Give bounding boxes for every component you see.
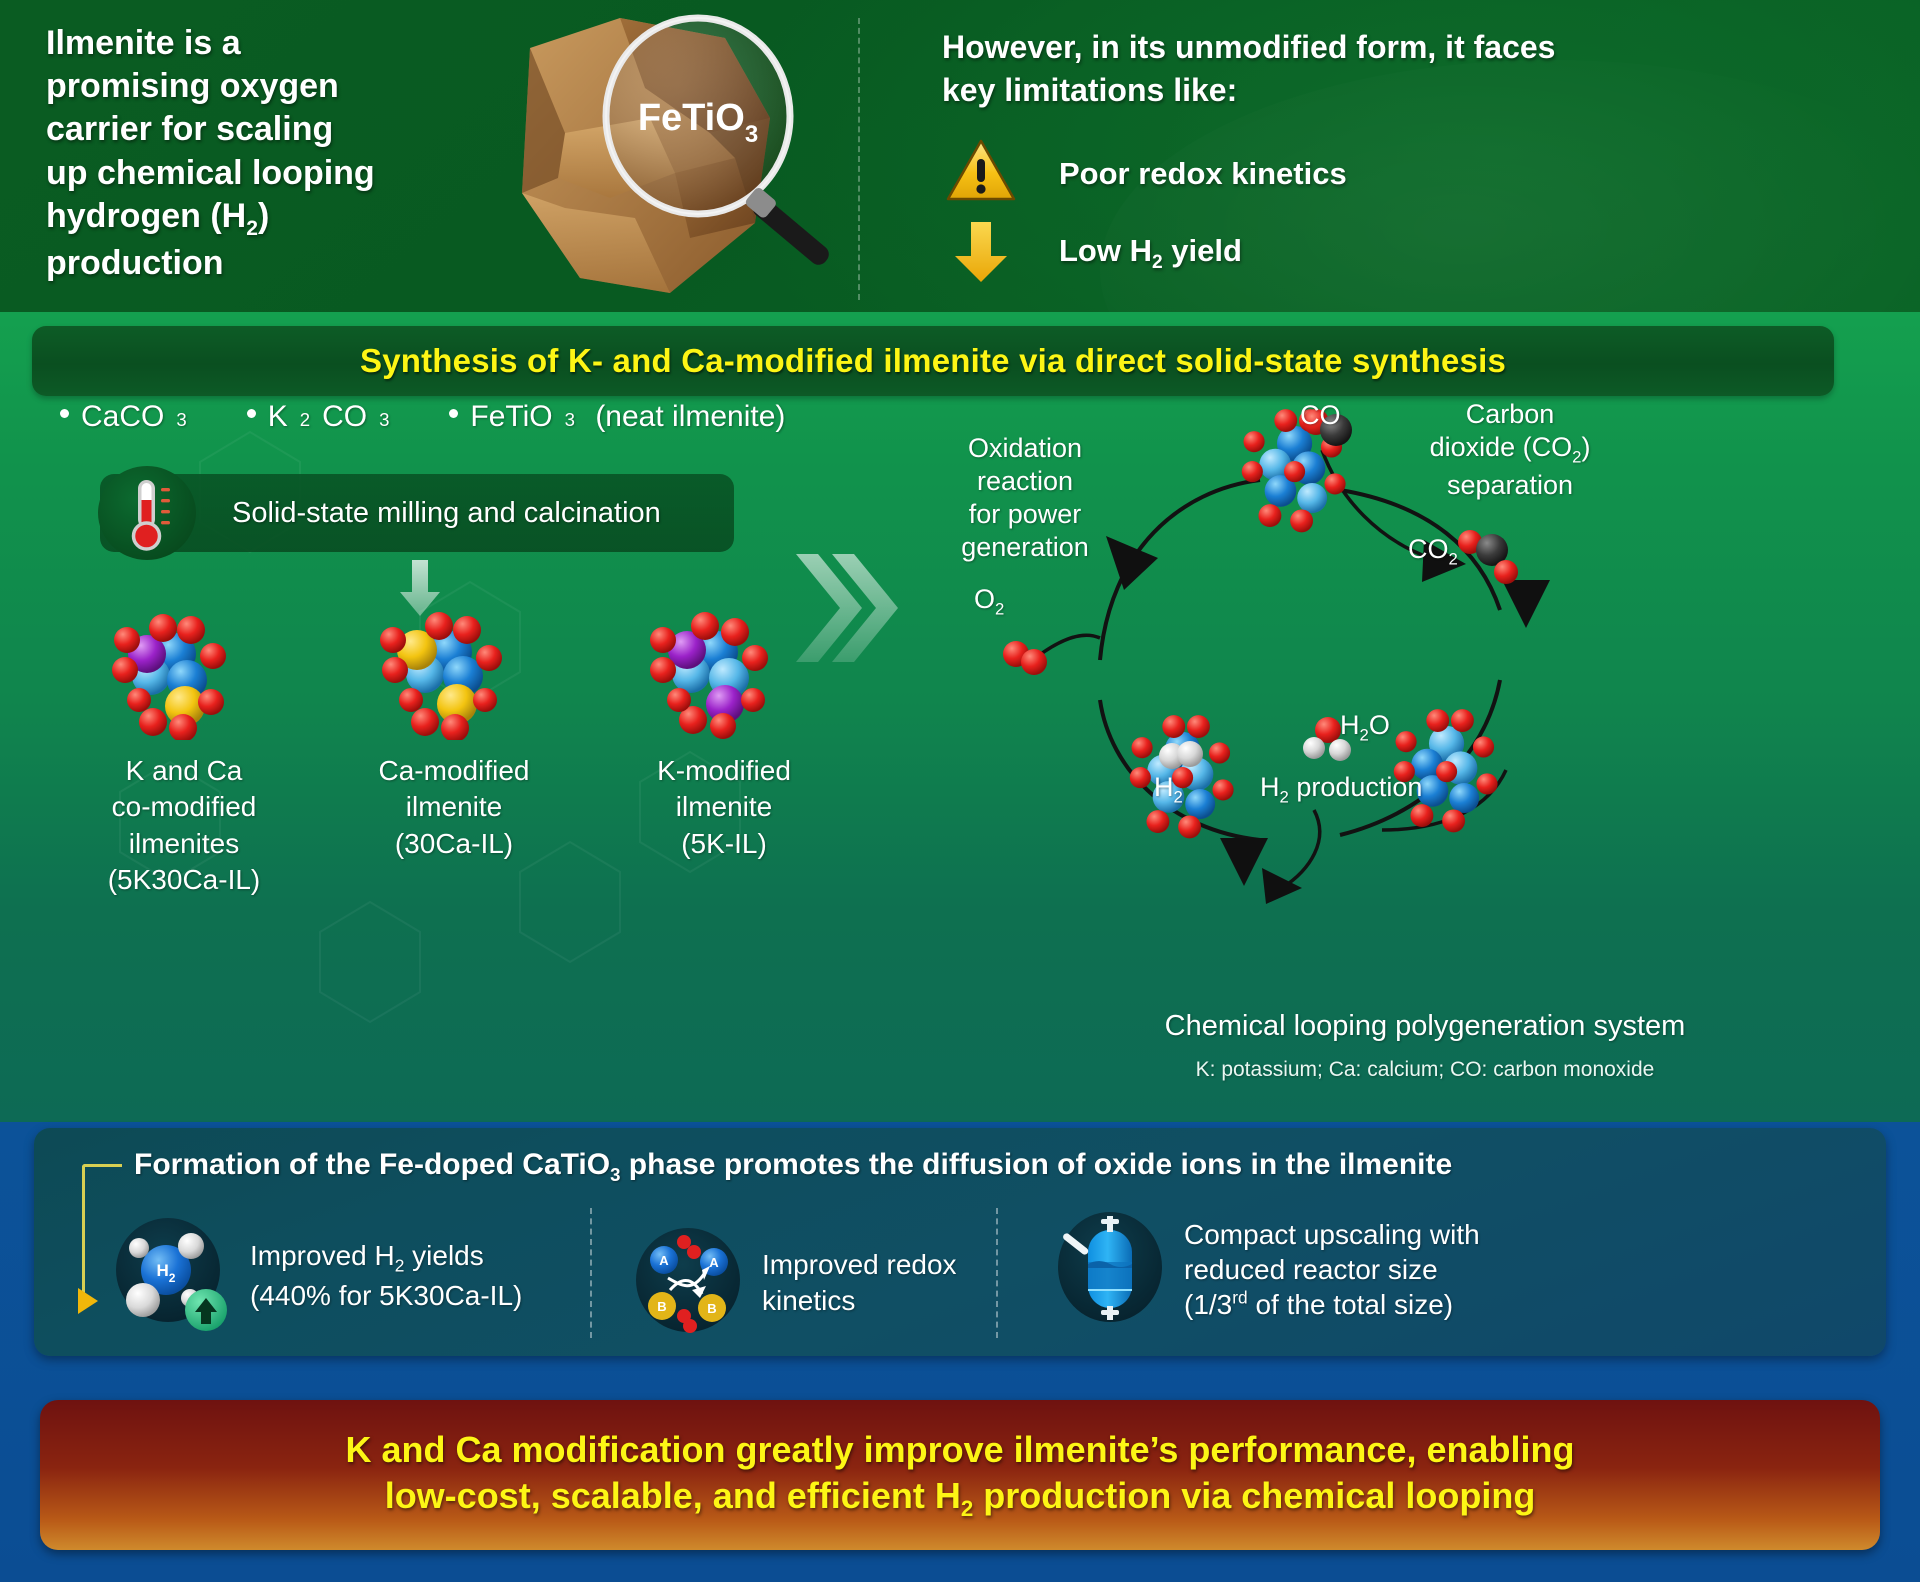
cycle-label-h2-production: H2 production <box>1260 772 1422 807</box>
o2-molecule-icon <box>1003 641 1047 675</box>
benefit-item-kinetics: A A B B Improved redoxkinetics <box>632 1224 982 1341</box>
reagent-fetio3: FeTiO3 (neat ilmenite) <box>449 400 785 434</box>
svg-text:B: B <box>707 1301 716 1316</box>
limitations-heading: However, in its unmodified form, it face… <box>942 26 1582 111</box>
chemical-looping-cycle-diagram: Oxidationreactionfor powergeneration CO … <box>910 390 1920 950</box>
down-arrow-icon <box>945 218 1017 289</box>
cycle-arrow-bottom <box>1220 838 1268 886</box>
svg-text:A: A <box>659 1253 669 1268</box>
benefit-label-yield: Improved H2 yields(440% for 5K30Ca-IL) <box>250 1238 522 1313</box>
benefit-label-upscaling: Compact upscaling withreduced reactor si… <box>1184 1217 1480 1323</box>
benefit-item-upscaling: Compact upscaling withreduced reactor si… <box>1054 1208 1854 1331</box>
ilmenite-rock-illustration: FeTiO3 <box>470 8 870 308</box>
warning-triangle-icon <box>945 138 1017 209</box>
cycle-caption: Chemical looping polygeneration system <box>930 1010 1920 1043</box>
reagent-k2co3: K2CO3 <box>247 400 390 434</box>
svg-text:A: A <box>709 1255 719 1270</box>
molecule-cluster-icon <box>359 610 549 740</box>
process-step-label: Solid-state milling and calcination <box>232 497 661 530</box>
bullet-dot-icon <box>60 409 69 418</box>
results-arrow-icon <box>78 1288 98 1314</box>
conclusion-line-2: low-cost, scalable, and efficient H2 pro… <box>385 1473 1536 1524</box>
bullet-dot-icon <box>247 409 256 418</box>
limitation-item-yield: Low H2 yield <box>945 218 1242 289</box>
limitation-label-yield: Low H2 yield <box>1059 233 1242 274</box>
benefit-label-kinetics: Improved redoxkinetics <box>762 1247 957 1318</box>
results-panel: Formation of the Fe-doped CaTiO3 phase p… <box>34 1128 1886 1356</box>
synthesis-banner-text: Synthesis of K- and Ca-modified ilmenite… <box>360 342 1506 380</box>
cycle-label-h2o: H2O <box>1340 710 1390 745</box>
limitation-label-redox: Poor redox kinetics <box>1059 156 1347 192</box>
h2-molecule-up-icon: H2 <box>112 1214 232 1337</box>
cycle-label-co2-separation: Carbondioxide (CO2)separation <box>1390 398 1630 502</box>
product-label-5k: K-modifiedilmenite(5K-IL) <box>594 753 854 862</box>
conclusion-banner: K and Ca modification greatly improve il… <box>40 1400 1880 1550</box>
product-item-5k30ca: K and Caco-modifiedilmenites(5K30Ca-IL) <box>54 610 314 899</box>
synthesis-banner: Synthesis of K- and Ca-modified ilmenite… <box>32 326 1834 396</box>
results-divider-2 <box>996 1208 998 1338</box>
cycle-label-co2: CO2 <box>1408 534 1458 569</box>
cycle-label-h2: H2 <box>1154 772 1183 807</box>
cycle-label-co: CO <box>1300 400 1341 431</box>
product-label-5k30ca: K and Caco-modifiedilmenites(5K30Ca-IL) <box>54 753 314 899</box>
product-item-30ca: Ca-modifiedilmenite(30Ca-IL) <box>324 610 584 862</box>
conclusion-line-1: K and Ca modification greatly improve il… <box>346 1427 1575 1473</box>
results-heading: Formation of the Fe-doped CaTiO3 phase p… <box>134 1148 1834 1186</box>
infographic-root: Ilmenite is apromising oxygencarrier for… <box>0 0 1920 1582</box>
co2-molecule-icon <box>1458 530 1518 584</box>
double-chevron-icon <box>790 548 900 673</box>
molecule-cluster-icon <box>89 610 279 740</box>
reagent-caco3: CaCO3 <box>60 400 187 434</box>
top-vertical-divider <box>858 18 860 300</box>
cycle-label-oxidation: Oxidationreactionfor powergeneration <box>930 432 1120 564</box>
h2-molecule-icon <box>1159 741 1203 769</box>
cycle-label-o2: O2 <box>974 584 1004 619</box>
limitation-item-redox: Poor redox kinetics <box>945 138 1347 209</box>
cycle-arrow-top-right <box>1502 580 1550 628</box>
benefit-item-yield: H2 Improved H2 yields(440% for 5K30Ca-IL… <box>112 1214 592 1337</box>
cycle-abbreviations: K: potassium; Ca: calcium; CO: carbon mo… <box>930 1058 1920 1082</box>
reagent-list: CaCO3 K2CO3 FeTiO3 (neat ilmenite) <box>60 400 920 434</box>
hero-statement: Ilmenite is apromising oxygencarrier for… <box>46 22 476 285</box>
electron-transfer-icon: A A B B <box>632 1224 744 1341</box>
svg-text:B: B <box>657 1299 666 1314</box>
reactor-vessel-icon <box>1054 1208 1166 1331</box>
product-label-30ca: Ca-modifiedilmenite(30Ca-IL) <box>324 753 584 862</box>
bullet-dot-icon <box>449 409 458 418</box>
thermometer-icon <box>98 466 196 560</box>
